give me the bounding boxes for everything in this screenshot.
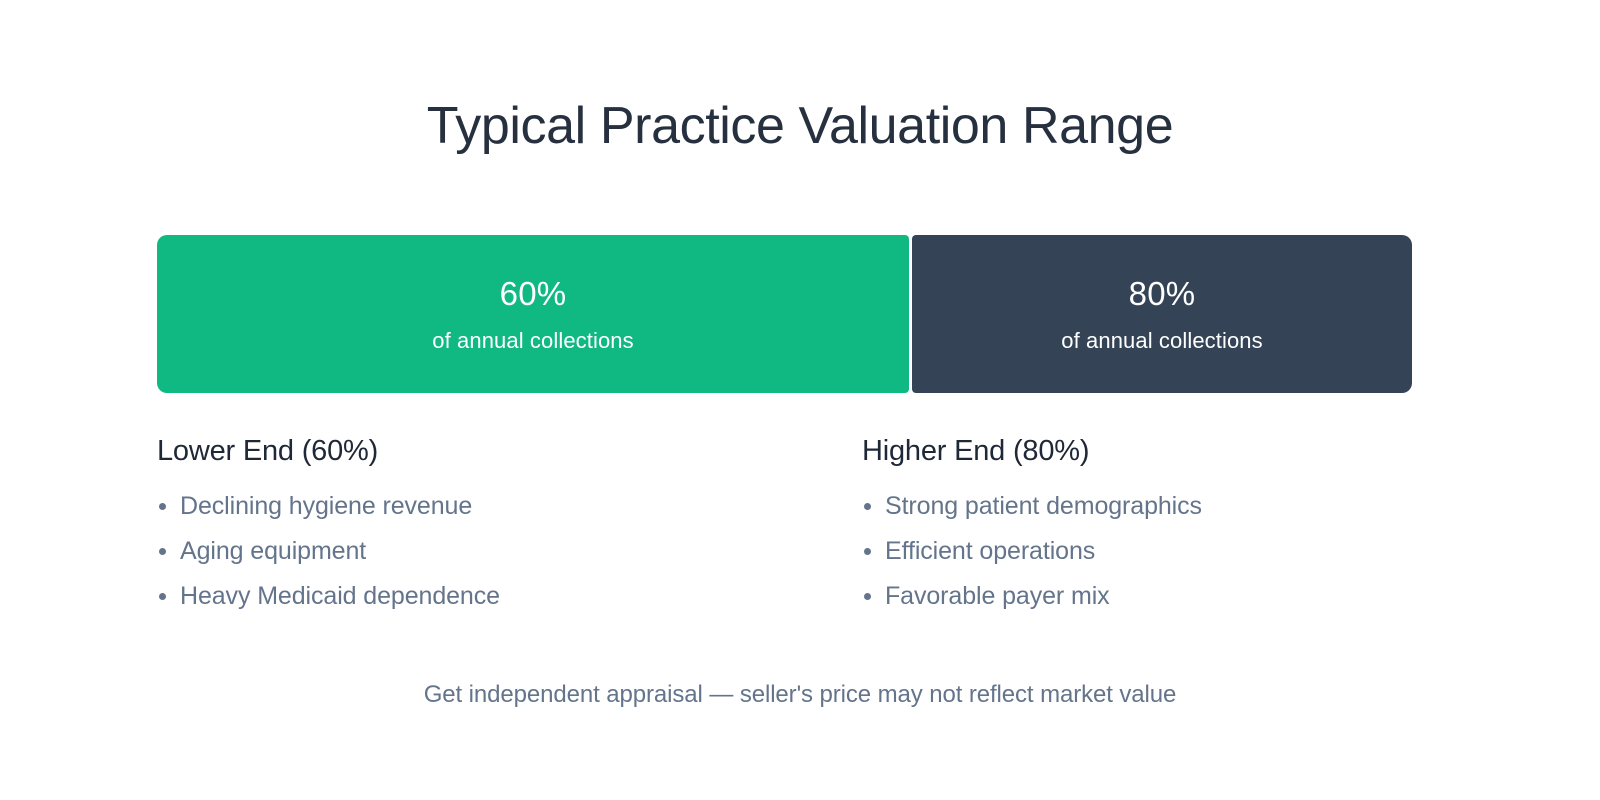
list-item-label: Declining hygiene revenue	[180, 492, 472, 520]
list-item-label: Efficient operations	[885, 537, 1095, 565]
range-segment-higher[interactable]: 80% of annual collections	[912, 235, 1412, 393]
bullet-icon	[159, 548, 166, 555]
footer-disclaimer: Get independent appraisal — seller's pri…	[0, 681, 1600, 710]
valuation-range-bar: 60% of annual collections 80% of annual …	[157, 235, 1412, 393]
detail-column-lower-heading: Lower End (60%)	[157, 437, 862, 466]
page-title: Typical Practice Valuation Range	[0, 97, 1600, 157]
range-segment-lower[interactable]: 60% of annual collections	[157, 235, 909, 393]
valuation-range-infographic: Typical Practice Valuation Range 60% of …	[0, 0, 1600, 800]
detail-column-lower-list: Declining hygiene revenue Aging equipmen…	[157, 494, 862, 609]
range-segment-higher-caption: of annual collections	[1061, 330, 1262, 352]
list-item: Favorable payer mix	[862, 584, 1412, 609]
range-segment-lower-caption: of annual collections	[432, 330, 633, 352]
bullet-icon	[864, 593, 871, 600]
list-item-label: Heavy Medicaid dependence	[180, 582, 500, 610]
list-item-label: Aging equipment	[180, 537, 366, 565]
detail-columns: Lower End (60%) Declining hygiene revenu…	[157, 437, 1412, 609]
list-item: Declining hygiene revenue	[157, 494, 862, 519]
bullet-icon	[864, 548, 871, 555]
detail-column-lower: Lower End (60%) Declining hygiene revenu…	[157, 437, 862, 609]
bullet-icon	[864, 503, 871, 510]
range-segment-lower-value: 60%	[500, 277, 567, 310]
list-item-label: Favorable payer mix	[885, 582, 1110, 610]
range-segment-higher-value: 80%	[1129, 277, 1196, 310]
list-item: Heavy Medicaid dependence	[157, 584, 862, 609]
bullet-icon	[159, 593, 166, 600]
detail-column-higher: Higher End (80%) Strong patient demograp…	[862, 437, 1412, 609]
list-item: Efficient operations	[862, 539, 1412, 564]
bullet-icon	[159, 503, 166, 510]
detail-column-higher-list: Strong patient demographics Efficient op…	[862, 494, 1412, 609]
list-item: Aging equipment	[157, 539, 862, 564]
detail-column-higher-heading: Higher End (80%)	[862, 437, 1412, 466]
list-item-label: Strong patient demographics	[885, 492, 1202, 520]
list-item: Strong patient demographics	[862, 494, 1412, 519]
